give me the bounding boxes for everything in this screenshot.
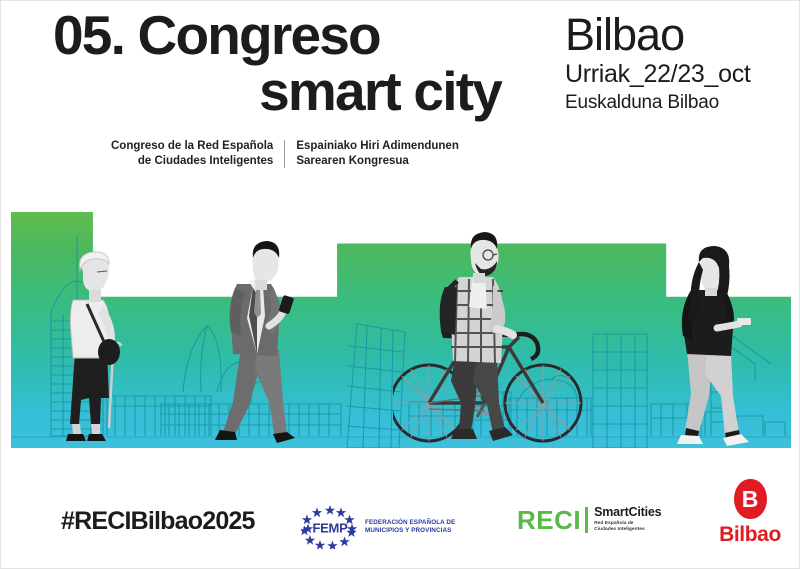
figure-man-with-bicycle [393, 231, 583, 457]
femp-text-line-2: MUNICIPIOS Y PROVINCIAS [365, 527, 455, 535]
subtitle-spanish-line-1: Congreso de la Red Española [111, 139, 273, 154]
subtitle-divider [284, 140, 285, 168]
femp-text-line-1: FEDERACIÓN ESPAÑOLA DE [365, 519, 455, 527]
subtitle-basque: Espainiako Hiri Adimendunen Sarearen Kon… [296, 139, 459, 169]
bilbao-logo[interactable]: B Bilbao [717, 479, 783, 547]
subtitle-basque-line-2: Sarearen Kongresua [296, 154, 459, 169]
poster-footer: #RECIBilbao2025 [1, 471, 800, 569]
event-city: Bilbao [565, 11, 751, 59]
femp-star-circle-icon: FEMP [301, 504, 359, 549]
bilbao-b-mark-icon: B [734, 479, 767, 519]
figure-businessman-with-phone [207, 238, 307, 453]
reci-logo-text: SmartCities Red Española de Ciudades Int… [594, 506, 661, 534]
femp-logo-text: FEDERACIÓN ESPAÑOLA DE MUNICIPIOS Y PROV… [365, 519, 455, 534]
reci-smartcities-label: SmartCities [594, 506, 661, 519]
poster-artwork [11, 206, 791, 448]
reci-subtext: Red Española de Ciudades Inteligentes [594, 521, 661, 534]
subtitle-basque-line-1: Espainiako Hiri Adimendunen [296, 139, 459, 154]
reci-wordmark: RECI [517, 507, 581, 533]
femp-logo[interactable]: FEMP FEDERACIÓN ESPAÑOLA DE MUNICIPIOS Y… [301, 504, 455, 549]
event-venue: Euskalduna Bilbao [565, 90, 751, 116]
bilbao-mark-letter: B [742, 488, 759, 511]
bilbao-wordmark: Bilbao [717, 523, 783, 547]
reci-subtext-line-2: Ciudades Inteligentes [594, 527, 661, 533]
event-dates: Urriak_22/23_oct [565, 59, 751, 90]
subtitle-spanish: Congreso de la Red Española de Ciudades … [111, 139, 273, 169]
subtitle-spanish-line-2: de Ciudades Inteligentes [111, 154, 273, 169]
page-title: 05. Congreso smart city [53, 7, 503, 119]
poster-header: 05. Congreso smart city Congreso de la R… [1, 1, 800, 191]
event-hashtag: #RECIBilbao2025 [61, 507, 255, 536]
congress-poster: 05. Congreso smart city Congreso de la R… [0, 0, 800, 569]
reci-divider-bar [585, 507, 588, 533]
reci-logo[interactable]: RECI SmartCities Red Española de Ciudade… [517, 506, 661, 534]
event-details: Bilbao Urriak_22/23_oct Euskalduna Bilba… [565, 11, 751, 116]
figure-elderly-woman-with-cane [53, 248, 139, 448]
title-line-1: 05. Congreso [53, 7, 503, 63]
figure-woman-with-phone [665, 246, 755, 454]
title-line-2: smart city [53, 63, 503, 119]
svg-text:FEMP: FEMP [313, 521, 349, 536]
bilingual-subtitle: Congreso de la Red Española de Ciudades … [111, 139, 459, 169]
